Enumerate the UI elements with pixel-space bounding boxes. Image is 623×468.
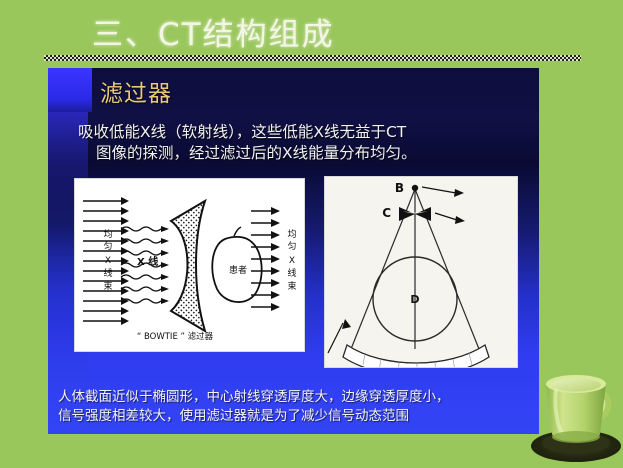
figure-left-caption: “ BOWTIE ” 滤过器 [137,331,214,342]
footer-paragraph: 人体截面近似于椭圆形，中心射线穿透厚度大，边缘穿透厚度小， 信号强度相差较大，使… [58,388,536,426]
svg-text:均: 均 [287,228,296,240]
title-area: 三、CT结构组成 [0,0,623,62]
page-title: 三、CT结构组成 [92,17,335,53]
svg-text:线: 线 [287,267,296,279]
figure-right-label-c: C [382,206,391,220]
body-line-2: 图像的探测，经过滤过后的X线能量分布均匀。 [78,143,518,164]
svg-text:线: 线 [103,267,112,279]
svg-text:匀: 匀 [103,240,112,252]
title-divider-rule [44,55,581,61]
footer-line-1: 人体截面近似于椭圆形，中心射线穿透厚度大，边缘穿透厚度小， [58,388,536,407]
svg-text:X: X [105,256,111,266]
figure-right-label-b: B [395,181,404,195]
svg-text:束: 束 [103,281,112,292]
figure-right-label-d: D [410,293,419,306]
slide-accent-block [48,68,92,112]
footer-line-2: 信号强度相差较大，使用滤过器就是为了减少信号动态范围 [58,407,536,426]
svg-text:匀: 匀 [287,240,296,252]
body-paragraph: 吸收低能X线（软射线），这些低能X线无益于CT 图像的探测，经过滤过后的X线能量… [78,122,518,164]
svg-text:束: 束 [287,281,296,292]
svg-text:X: X [289,256,295,266]
svg-text:均: 均 [103,228,112,240]
svg-text:X 线: X 线 [137,255,158,268]
slide-content-panel: 滤过器 吸收低能X线（软射线），这些低能X线无益于CT 图像的探测，经过滤过后的… [48,68,539,434]
svg-text:患者: 患者 [229,264,247,276]
section-heading: 滤过器 [100,80,172,108]
body-line-1: 吸收低能X线（软射线），这些低能X线无益于CT [78,122,518,143]
slide-page: 三、CT结构组成 滤过器 吸收低能X线（软射线），这些低能X线无益于CT 图像的… [0,0,623,468]
ct-gantry-geometry-diagram: B C D [324,176,518,368]
bowtie-filter-beam-diagram: 均 匀 X 线 束 [74,178,305,352]
green-teacup-decoration [530,356,623,468]
